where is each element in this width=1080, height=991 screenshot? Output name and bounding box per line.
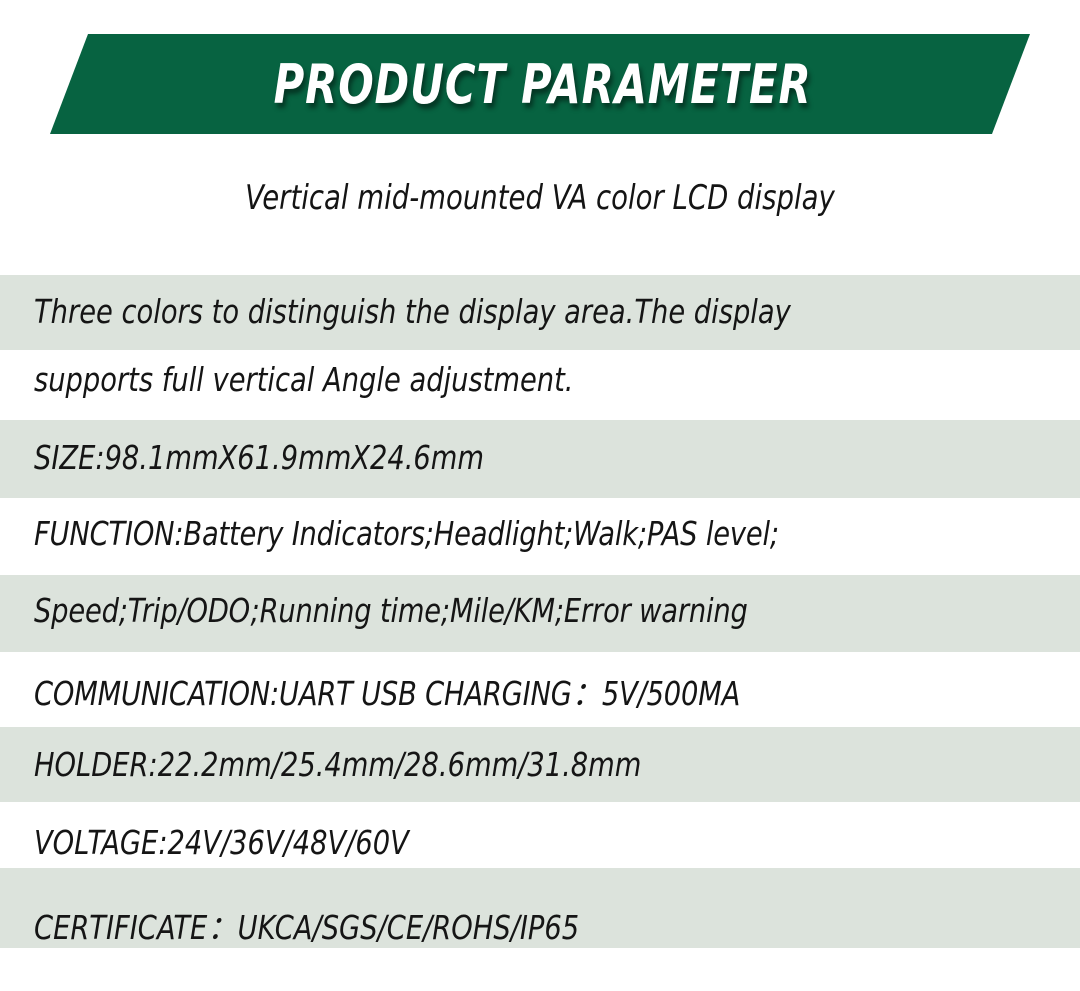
header-banner-area: PRODUCT PARAMETER	[0, 0, 1080, 160]
spec-line: FUNCTION:Battery Indicators;Headlight;Wa…	[34, 514, 982, 553]
spec-line: supports full vertical Angle adjustment.	[34, 360, 982, 399]
subtitle: Vertical mid-mounted VA color LCD displa…	[54, 178, 1026, 218]
header-banner: PRODUCT PARAMETER	[0, 34, 1080, 134]
spec-line: COMMUNICATION:UART USB CHARGING：5V/500MA	[34, 667, 982, 715]
spec-line: HOLDER:22.2mm/25.4mm/28.6mm/31.8mm	[34, 745, 982, 784]
page-title: PRODUCT PARAMETER	[76, 34, 1005, 134]
spec-line: SIZE:98.1mmX61.9mmX24.6mm	[34, 438, 982, 477]
spec-line: Speed;Trip/ODO;Running time;Mile/KM;Erro…	[34, 591, 982, 630]
spec-list: Three colors to distinguish the display …	[0, 262, 1080, 991]
spec-line: CERTIFICATE：UKCA/SGS/CE/ROHS/IP65	[34, 901, 982, 949]
spec-line: VOLTAGE:24V/36V/48V/60V	[34, 823, 982, 862]
spec-line: Three colors to distinguish the display …	[34, 292, 982, 331]
spec-text-lines: Three colors to distinguish the display …	[0, 262, 1080, 991]
